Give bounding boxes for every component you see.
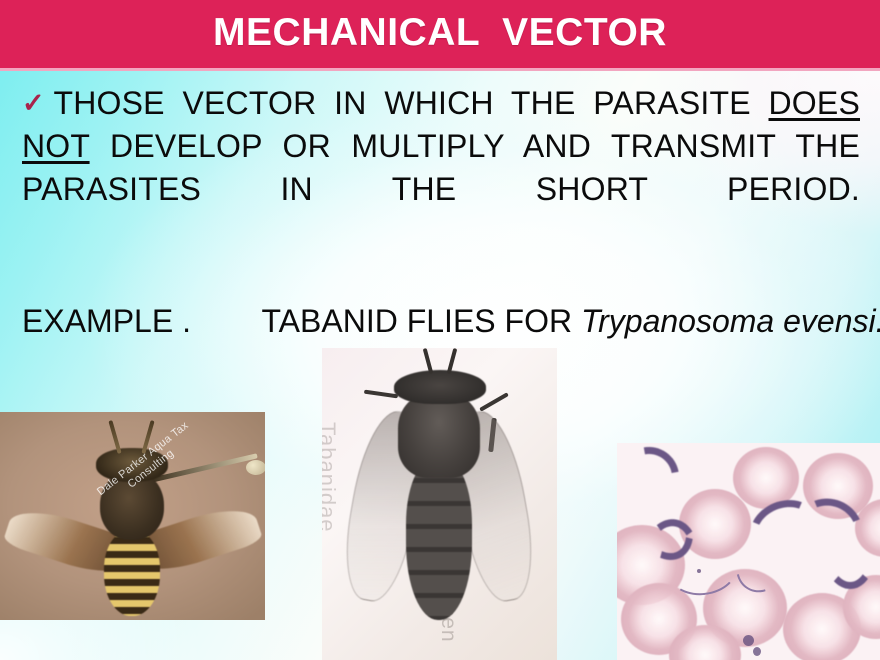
example-species-name: Trypanosoma evensi. <box>581 303 880 339</box>
presentation-slide: MECHANICAL VECTOR ✓THOSE VECTOR IN WHICH… <box>0 0 880 660</box>
trypanosoma-blood-smear-photo <box>617 443 880 660</box>
tabanid-fly-pinned-photo: Dale Parker Aqua Tax Consulting <box>0 412 265 620</box>
example-spacer <box>191 303 262 339</box>
specimen-thorax <box>398 392 480 478</box>
definition-paragraph: ✓THOSE VECTOR IN WHICH THE PARASITE DOES… <box>22 82 860 254</box>
definition-text-part1: THOSE VECTOR IN WHICH THE PARASITE <box>53 85 768 121</box>
example-line-wrapper: EXAMPLE . TABANID FLIES FOR Trypanosoma … <box>22 300 862 342</box>
stain-speck <box>753 647 761 656</box>
definition-text-part2: DEVELOP OR MULTIPLY AND TRANSMIT THE PAR… <box>22 128 860 207</box>
example-label: EXAMPLE . <box>22 303 191 339</box>
specimen-leg-left <box>364 390 398 399</box>
fly-head <box>96 448 168 482</box>
specimen-label-left: Tabanidae <box>322 422 340 533</box>
stain-speck <box>697 569 701 573</box>
example-text: TABANID FLIES FOR <box>262 303 581 339</box>
stain-speck <box>743 635 754 646</box>
specimen-abdomen <box>406 460 472 620</box>
specimen-leg-right-upper <box>479 392 509 411</box>
header-divider <box>0 68 880 71</box>
insect-pin-head <box>246 460 265 475</box>
tabanid-fly-specimen-photo: Tabanidae abdomen <box>322 348 557 660</box>
fly-abdomen <box>104 530 160 616</box>
slide-header-bar: MECHANICAL VECTOR <box>0 0 880 68</box>
checkmark-bullet-icon: ✓ <box>22 88 53 118</box>
body-text-block: ✓THOSE VECTOR IN WHICH THE PARASITE DOES… <box>22 82 860 254</box>
specimen-head <box>394 370 486 404</box>
example-paragraph: EXAMPLE . TABANID FLIES FOR Trypanosoma … <box>22 300 862 342</box>
slide-title: MECHANICAL VECTOR <box>213 11 667 57</box>
